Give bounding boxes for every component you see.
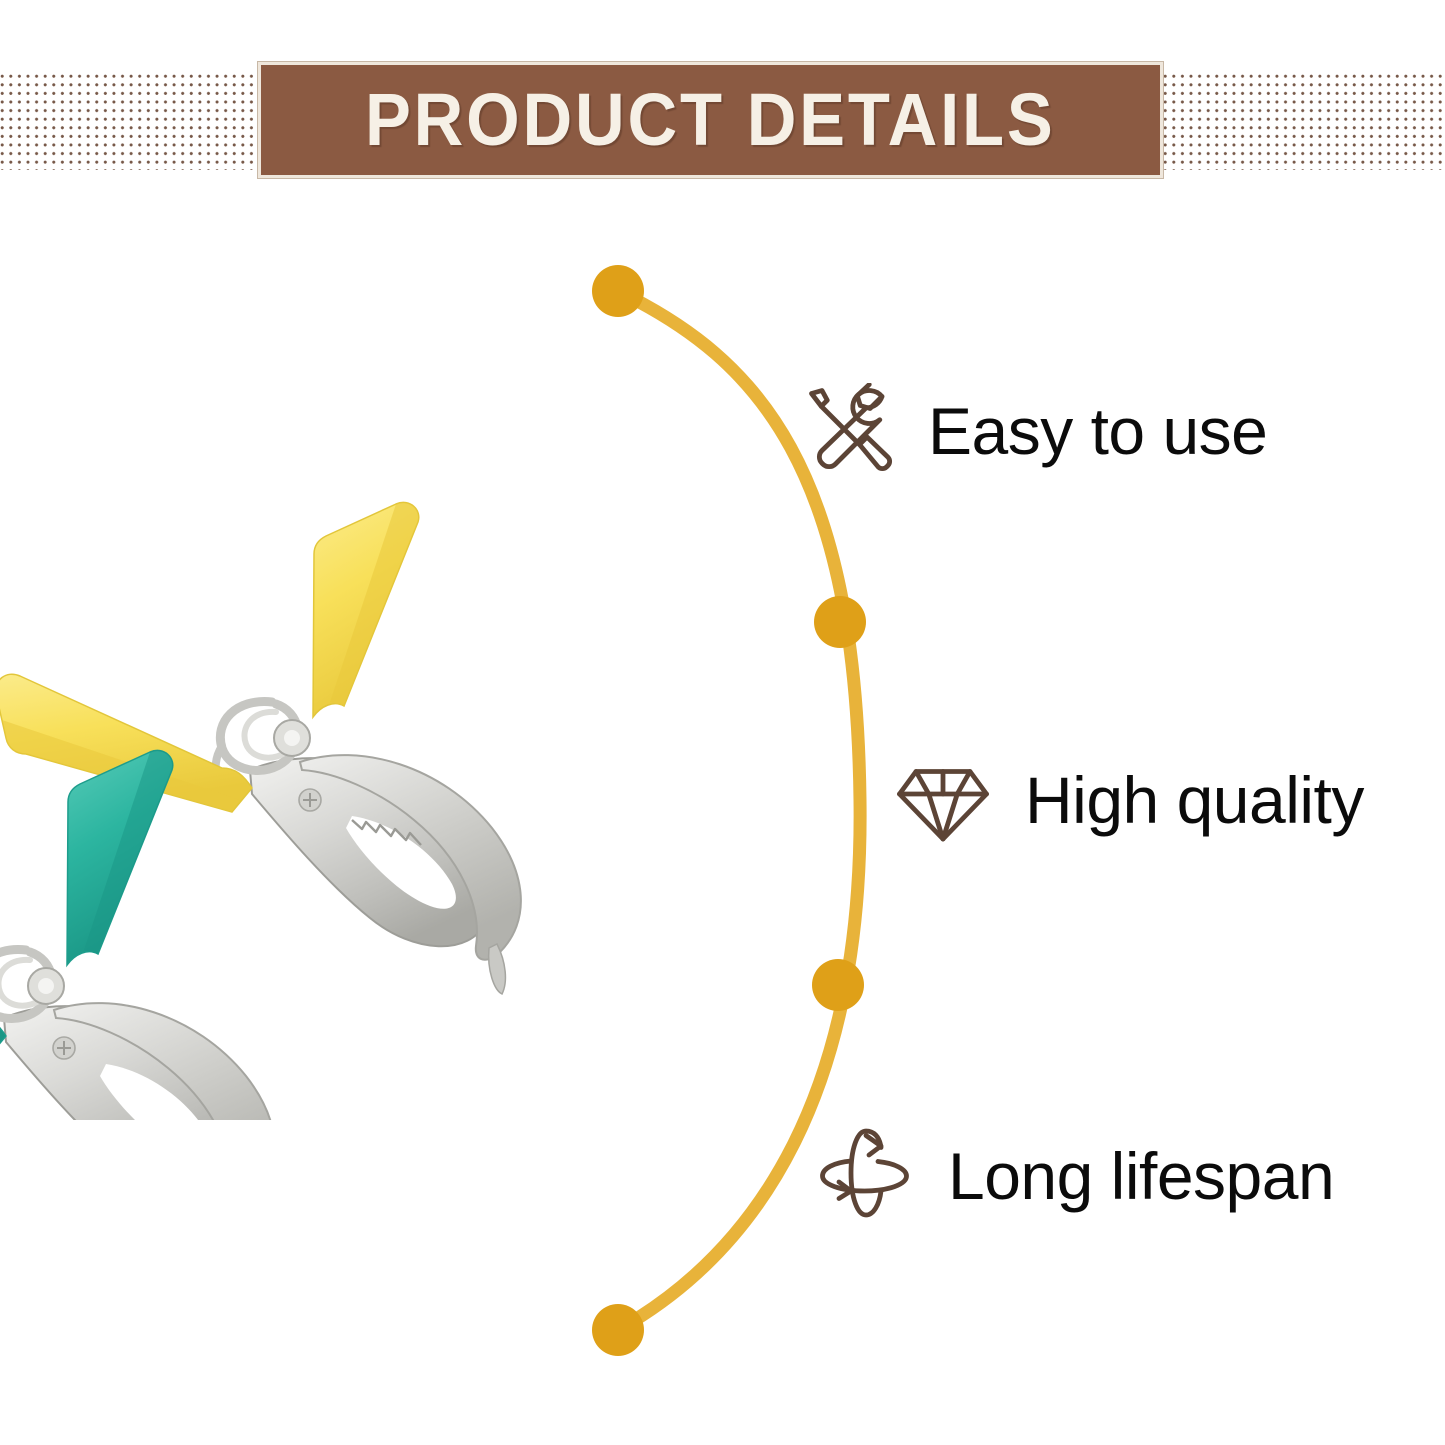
shears-blade-tip bbox=[489, 944, 506, 994]
header-banner: PRODUCT DETAILS bbox=[258, 62, 1163, 178]
product-image bbox=[0, 470, 820, 1120]
arc-node-2 bbox=[814, 596, 866, 648]
shears-pivot-hole bbox=[284, 730, 300, 746]
page-title: PRODUCT DETAILS bbox=[365, 83, 1056, 157]
shears-pivot-hole bbox=[38, 978, 54, 994]
arc-node-4 bbox=[592, 1304, 644, 1356]
feature-item-high-quality: High quality bbox=[895, 752, 1364, 848]
feature-item-long-lifespan: Long lifespan bbox=[818, 1128, 1334, 1224]
feature-item-easy-to-use: Easy to use bbox=[798, 383, 1267, 479]
arc-node-1 bbox=[592, 265, 644, 317]
dot-pattern-right bbox=[1163, 74, 1445, 170]
tools-icon bbox=[798, 383, 894, 479]
feature-label-easy-to-use: Easy to use bbox=[928, 398, 1267, 464]
diamond-icon bbox=[895, 752, 991, 848]
feature-label-high-quality: High quality bbox=[1025, 767, 1364, 833]
product-details-page: PRODUCT DETAILS bbox=[0, 0, 1445, 1445]
feature-label-long-lifespan: Long lifespan bbox=[948, 1143, 1334, 1209]
lifecycle-icon bbox=[818, 1128, 914, 1224]
dot-pattern-left bbox=[0, 74, 262, 170]
